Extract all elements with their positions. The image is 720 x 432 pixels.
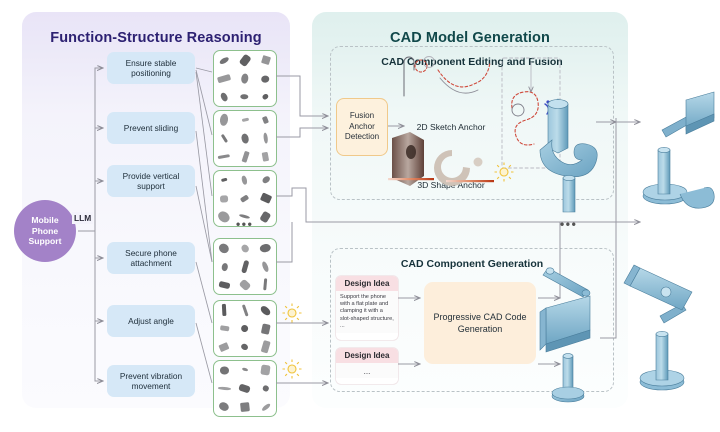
part-thumbnail bbox=[255, 398, 276, 416]
part-thumbnail bbox=[255, 361, 276, 379]
final-assembly-model-1 bbox=[643, 92, 714, 208]
part-thumbnail bbox=[214, 171, 235, 189]
part-thumbnail bbox=[255, 276, 276, 294]
part-thumbnail bbox=[235, 171, 256, 189]
function-box-secure-phone-attachment[interactable]: Secure phone attachment bbox=[107, 242, 195, 274]
part-thumbnail bbox=[255, 301, 276, 319]
progressive-cad-code-generation-block[interactable]: Progressive CAD Code Generation bbox=[424, 282, 536, 364]
function-label: Adjust angle bbox=[128, 316, 174, 327]
design-idea-body: ... bbox=[336, 363, 398, 378]
design-idea-card[interactable]: Design Idea Support the phone with a fla… bbox=[336, 276, 398, 340]
part-thumbnail bbox=[255, 379, 276, 397]
part-thumbnail-grid[interactable] bbox=[213, 300, 277, 357]
function-label: Ensure stable positioning bbox=[110, 58, 192, 79]
part-thumbnail bbox=[235, 276, 256, 294]
part-thumbnail bbox=[214, 257, 235, 275]
part-thumbnail bbox=[235, 51, 256, 69]
part-thumbnail bbox=[214, 301, 235, 319]
fusion-section-title: CAD Component Editing and Fusion bbox=[331, 56, 613, 68]
function-label: Provide vertical support bbox=[110, 171, 192, 192]
part-thumbnail-grid[interactable] bbox=[213, 50, 277, 107]
function-label: Secure phone attachment bbox=[110, 248, 192, 269]
part-thumbnail bbox=[214, 69, 235, 87]
part-thumbnail bbox=[214, 148, 235, 166]
part-thumbnail bbox=[235, 88, 256, 106]
part-thumbnail bbox=[235, 148, 256, 166]
part-thumbnail bbox=[255, 148, 276, 166]
final-assembly-model-2 bbox=[624, 265, 692, 390]
part-thumbnail bbox=[214, 398, 235, 416]
left-panel-title: Function-Structure Reasoning bbox=[22, 30, 290, 46]
function-box-provide-vertical-support[interactable]: Provide vertical support bbox=[107, 165, 195, 197]
part-thumbnail bbox=[255, 338, 276, 356]
part-thumbnail bbox=[235, 361, 256, 379]
part-thumbnail bbox=[235, 379, 256, 397]
2d-sketch-anchor-label: 2D Sketch Anchor bbox=[396, 122, 506, 132]
part-thumbnail bbox=[235, 239, 256, 257]
function-box-adjust-angle[interactable]: Adjust angle bbox=[107, 305, 195, 337]
part-thumbnail bbox=[235, 111, 256, 129]
right-panel-title: CAD Model Generation bbox=[312, 30, 628, 46]
part-thumbnail bbox=[214, 319, 235, 337]
part-thumbnail bbox=[255, 171, 276, 189]
part-thumbnail bbox=[235, 301, 256, 319]
part-thumbnail bbox=[214, 51, 235, 69]
design-idea-body: Support the phone with a flat plate and … bbox=[336, 291, 398, 333]
part-thumbnail bbox=[235, 257, 256, 275]
part-thumbnail bbox=[214, 88, 235, 106]
part-thumbnail bbox=[214, 239, 235, 257]
part-thumbnail bbox=[255, 69, 276, 87]
generation-section-title: CAD Component Generation bbox=[331, 258, 613, 270]
function-box-ensure-stable-positioning[interactable]: Ensure stable positioning bbox=[107, 52, 195, 84]
part-thumbnail bbox=[214, 338, 235, 356]
part-thumbnail bbox=[255, 189, 276, 207]
right-ellipsis: ••• bbox=[560, 217, 577, 231]
part-thumbnail bbox=[214, 189, 235, 207]
design-idea-heading: Design Idea bbox=[336, 348, 398, 363]
part-thumbnail bbox=[255, 129, 276, 147]
part-thumbnail bbox=[255, 319, 276, 337]
part-thumbnail bbox=[214, 379, 235, 397]
root-node-mobile-phone-support[interactable]: MobilePhoneSupport bbox=[14, 200, 76, 262]
part-thumbnail bbox=[235, 189, 256, 207]
part-thumbnail bbox=[255, 51, 276, 69]
part-thumbnail-grid[interactable] bbox=[213, 110, 277, 167]
3d-shape-anchor-label: 3D Shape Anchor bbox=[396, 180, 506, 190]
part-thumbnail bbox=[235, 69, 256, 87]
part-thumbnail bbox=[235, 398, 256, 416]
part-thumbnail bbox=[255, 111, 276, 129]
part-thumbnail bbox=[235, 338, 256, 356]
part-thumbnail bbox=[235, 129, 256, 147]
part-thumbnail bbox=[255, 88, 276, 106]
function-label: Prevent sliding bbox=[124, 123, 178, 134]
part-thumbnail bbox=[214, 129, 235, 147]
part-thumbnail bbox=[214, 361, 235, 379]
llm-edge-label: LLM bbox=[72, 212, 93, 224]
function-label: Prevent vibration movement bbox=[110, 371, 192, 392]
function-box-prevent-sliding[interactable]: Prevent sliding bbox=[107, 112, 195, 144]
part-thumbnail bbox=[255, 208, 276, 226]
function-box-prevent-vibration-movement[interactable]: Prevent vibration movement bbox=[107, 365, 195, 397]
part-thumbnail-grid[interactable] bbox=[213, 238, 277, 295]
part-thumbnail bbox=[214, 276, 235, 294]
diagram-canvas: Function-Structure Reasoning CAD Model G… bbox=[0, 0, 720, 432]
left-ellipsis: ••• bbox=[236, 217, 253, 231]
part-thumbnail bbox=[214, 111, 235, 129]
part-thumbnail-grid[interactable] bbox=[213, 360, 277, 417]
part-thumbnail bbox=[255, 257, 276, 275]
part-thumbnail bbox=[235, 319, 256, 337]
design-idea-card[interactable]: Design Idea ... bbox=[336, 348, 398, 384]
part-thumbnail bbox=[214, 208, 235, 226]
design-idea-heading: Design Idea bbox=[336, 276, 398, 291]
fusion-anchor-detection-block[interactable]: FusionAnchorDetection bbox=[336, 98, 388, 156]
fusion-anchor-detection-label: FusionAnchorDetection bbox=[345, 111, 379, 142]
part-thumbnail bbox=[255, 239, 276, 257]
root-node-label: MobilePhoneSupport bbox=[29, 215, 62, 247]
progressive-cad-code-generation-label: Progressive CAD Code Generation bbox=[424, 311, 536, 335]
